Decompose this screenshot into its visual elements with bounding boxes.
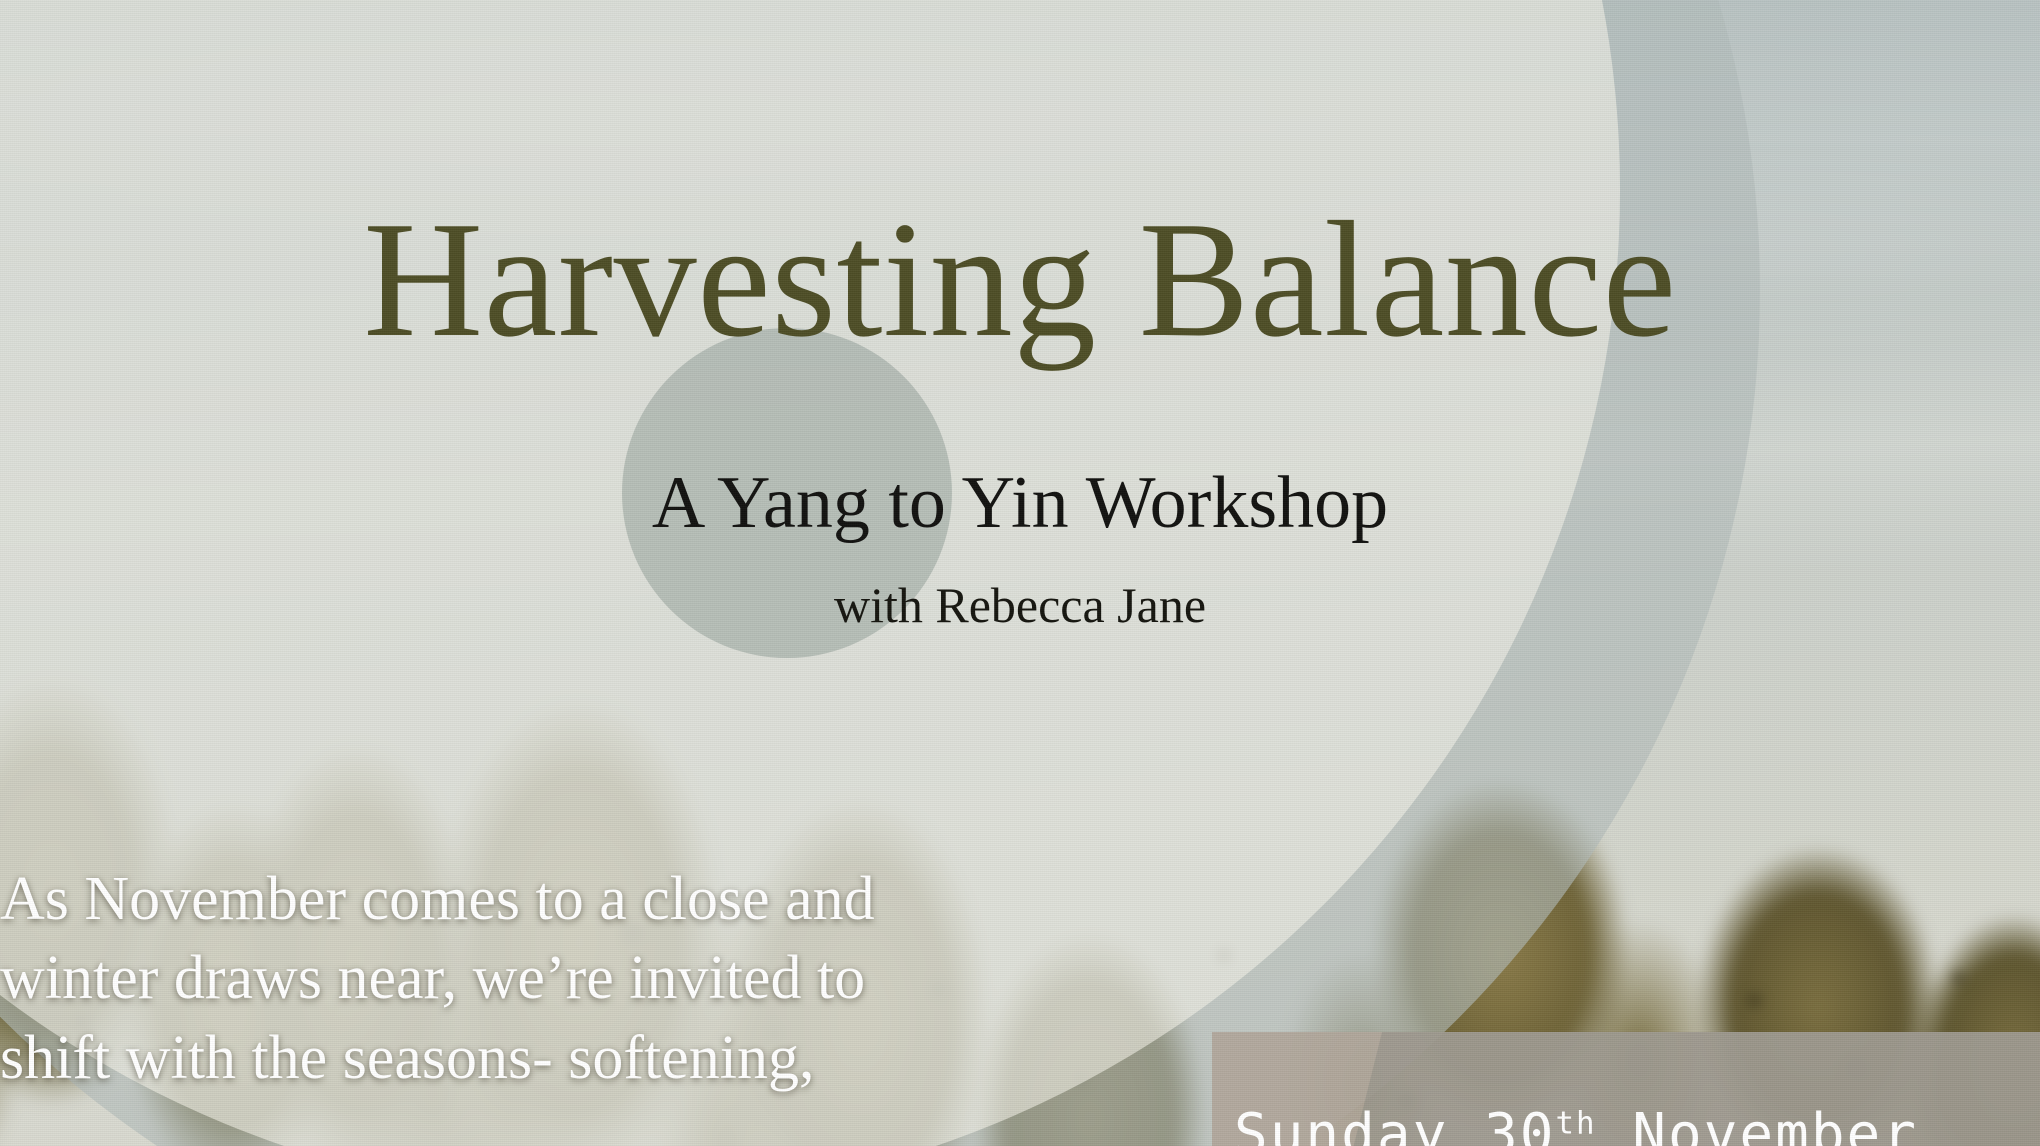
body-paragraph: As November comes to a close and winter … xyxy=(0,860,1140,1098)
subtitle: A Yang to Yin Workshop xyxy=(0,466,2040,540)
date-day-name: Sunday xyxy=(1234,1102,1448,1146)
date-plaque: Sunday 30th November xyxy=(1212,1032,2040,1146)
date-day-number: 30 xyxy=(1484,1102,1555,1146)
body-line: shift with the seasons- softening, xyxy=(0,1019,1140,1098)
presenter-credit: with Rebecca Jane xyxy=(0,580,2040,630)
date-month: November xyxy=(1632,1102,1918,1146)
event-date: Sunday 30th November xyxy=(1234,1102,1918,1146)
workshop-poster: Harvesting Balance A Yang to Yin Worksho… xyxy=(0,0,2040,1146)
body-line: As November comes to a close and xyxy=(0,860,1140,939)
date-ordinal: th xyxy=(1555,1105,1596,1141)
page-title: Harvesting Balance xyxy=(0,196,2040,362)
body-line: winter draws near, we’re invited to xyxy=(0,939,1140,1018)
